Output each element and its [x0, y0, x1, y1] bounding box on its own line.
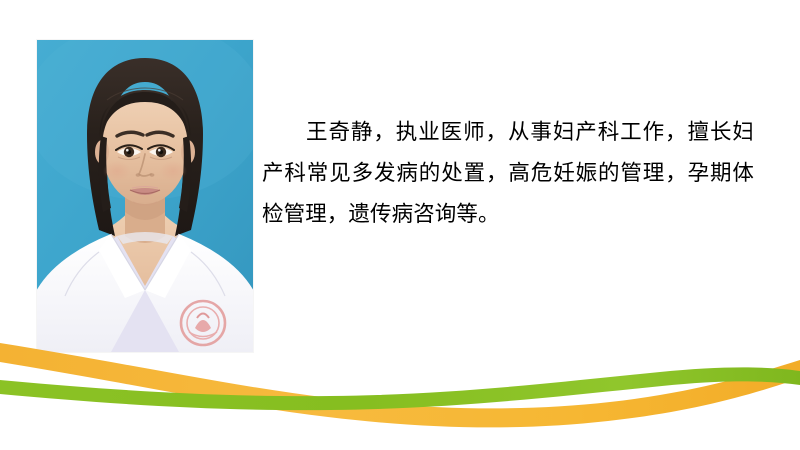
doctor-portrait-photo — [37, 40, 253, 352]
hospital-emblem-icon — [181, 301, 225, 345]
green-ribbon — [0, 367, 800, 410]
doctor-bio-text: 王奇静，执业医师，从事妇产科工作，擅长妇产科常见多发病的处置，高危妊娠的管理，孕… — [262, 112, 754, 235]
slide-canvas: 王奇静，执业医师，从事妇产科工作，擅长妇产科常见多发病的处置，高危妊娠的管理，孕… — [0, 0, 800, 450]
portrait-illustration — [37, 40, 253, 352]
decorative-ribbon-waves — [0, 340, 800, 450]
orange-ribbon — [0, 343, 800, 427]
